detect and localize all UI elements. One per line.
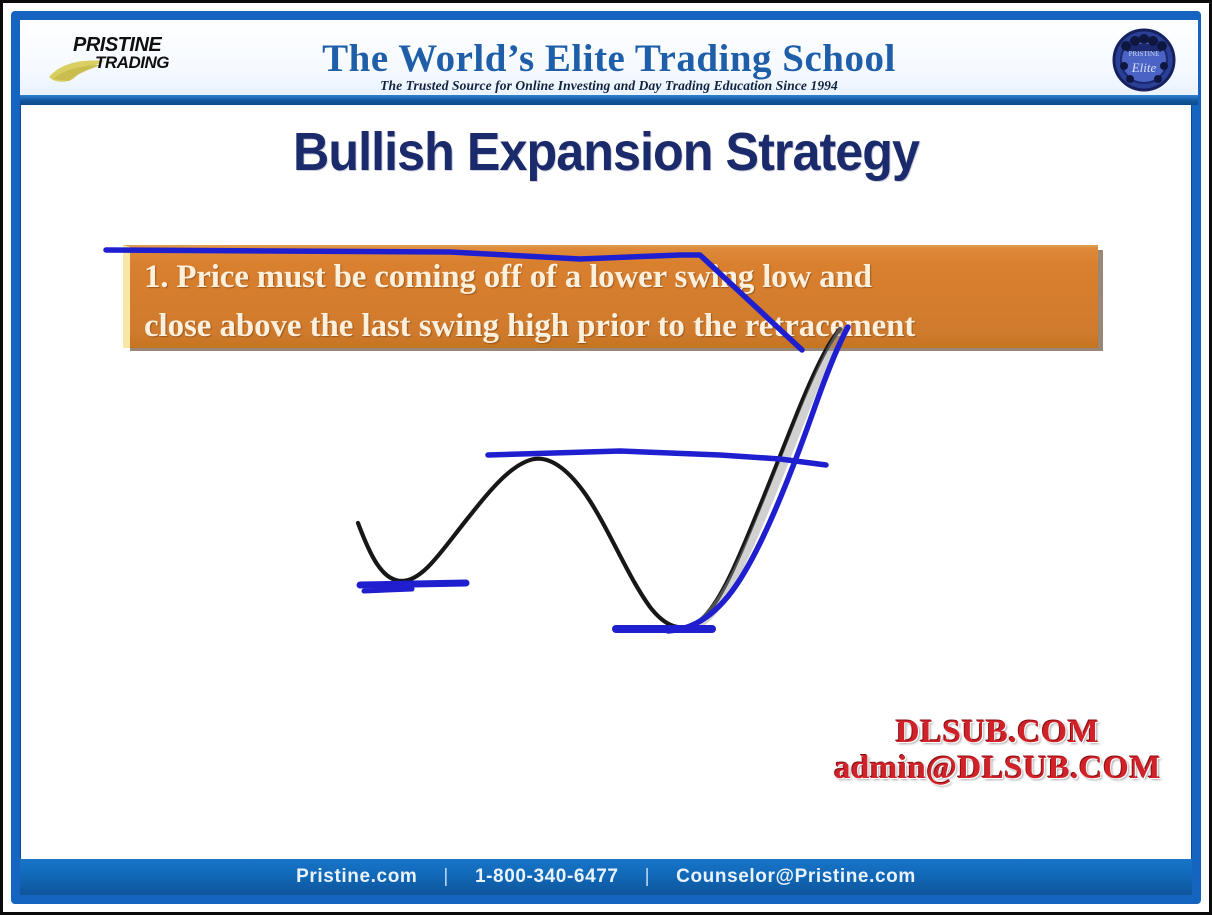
first-swing-low-tick-accent <box>364 589 412 591</box>
pristine-seal-icon: PRISTINE Elite <box>1107 22 1181 96</box>
watermark-line-1: DLSUB.COM <box>834 715 1161 751</box>
footer-separator-1: | <box>443 866 449 888</box>
callout-pointer-line <box>106 250 802 350</box>
svg-text:PRISTINE: PRISTINE <box>1129 50 1160 58</box>
slide-header: PRISTINE TRADING The World’s Elite Tradi… <box>20 20 1198 96</box>
svg-text:Elite: Elite <box>1131 60 1157 75</box>
watermark-line-2: admin@DLSUB.COM <box>834 751 1161 787</box>
slide: PRISTINE TRADING The World’s Elite Tradi… <box>0 0 1212 915</box>
first-swing-low-tick <box>360 583 466 585</box>
price-curve-shading <box>692 331 842 627</box>
footer-website[interactable]: Pristine.com <box>296 866 417 888</box>
slide-footer: Pristine.com | 1-800-340-6477 | Counselo… <box>20 859 1192 895</box>
header-subtitle: The Trusted Source for Online Investing … <box>20 78 1198 94</box>
footer-separator-2: | <box>645 866 651 888</box>
dlsub-watermark: DLSUB.COM admin@DLSUB.COM <box>834 715 1161 786</box>
footer-phone[interactable]: 1-800-340-6477 <box>475 866 619 888</box>
footer-email[interactable]: Counselor@Pristine.com <box>676 866 916 888</box>
header-title: The World’s Elite Trading School <box>20 36 1198 81</box>
